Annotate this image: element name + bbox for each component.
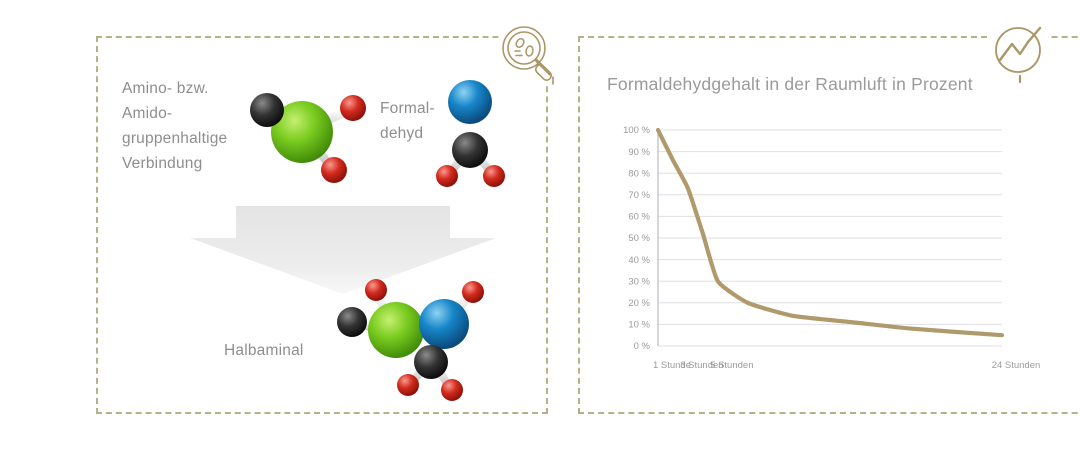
chart-y-tick-label: 0 % xyxy=(634,341,651,352)
chart-y-axis-labels: 0 %10 %20 %30 %40 %50 %60 %70 %80 %90 %1… xyxy=(623,125,650,352)
chart-y-tick-label: 100 % xyxy=(623,125,650,136)
amino-compound-molecule xyxy=(240,82,380,192)
chart-y-tick-label: 90 % xyxy=(628,147,650,158)
chart-y-tick-label: 40 % xyxy=(628,255,650,266)
chart-y-tick-label: 30 % xyxy=(628,276,650,287)
chart-y-tick-label: 50 % xyxy=(628,233,650,244)
chart-series-line xyxy=(658,130,1002,335)
chart-x-tick-label: 24 Stunden xyxy=(992,360,1041,371)
chart-gridlines xyxy=(658,130,1002,346)
chart-title: Formaldehydgehalt in der Raumluft in Pro… xyxy=(607,74,973,95)
chart-y-tick-label: 70 % xyxy=(628,190,650,201)
slide-canvas: Amino- bzw. Amido- gruppenhaltige Verbin… xyxy=(0,0,1080,462)
hemiaminal-molecule xyxy=(326,272,506,402)
trend-chart-circle-icon xyxy=(988,20,1052,84)
formaldehyde-molecule xyxy=(437,70,527,190)
chart-y-tick-label: 10 % xyxy=(628,320,650,331)
chart-y-tick-label: 80 % xyxy=(628,168,650,179)
chart-y-tick-label: 60 % xyxy=(628,212,650,223)
line-chart: 0 %10 %20 %30 %40 %50 %60 %70 %80 %90 %1… xyxy=(606,118,1006,386)
chart-y-tick-label: 20 % xyxy=(628,298,650,309)
magnifier-with-particles-icon xyxy=(498,22,562,86)
chart-x-axis-labels: 1 Stunde3 Stunden5 Stunden24 Stunden xyxy=(653,360,1040,371)
chart-x-tick-label: 5 Stunden xyxy=(710,360,753,371)
